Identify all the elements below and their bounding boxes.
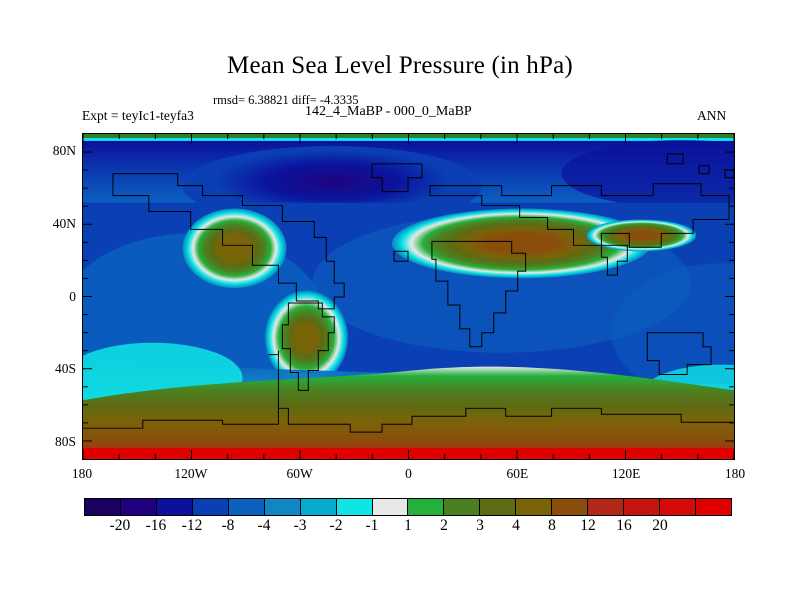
colorbar-cell-8[interactable]	[373, 499, 409, 515]
colorbar-cell-0[interactable]	[85, 499, 121, 515]
case-comparison-label: 142_4_MaBP - 000_0_MaBP	[305, 104, 472, 120]
season-label: ANN	[697, 108, 726, 124]
colorbar-strip[interactable]	[84, 498, 732, 516]
colorbar-cell-9[interactable]	[408, 499, 444, 515]
y-tick-label-80N: 80N	[30, 143, 76, 159]
x-tick-label-60E: 60E	[487, 466, 547, 482]
colorbar-cell-11[interactable]	[480, 499, 516, 515]
y-tick-label-80S: 80S	[30, 434, 76, 450]
colorbar-cell-15[interactable]	[624, 499, 660, 515]
x-tick-label-0: 0	[379, 466, 439, 482]
colorbar-cell-17[interactable]	[696, 499, 731, 515]
map-plot-area[interactable]	[82, 133, 735, 460]
colorbar-cell-7[interactable]	[337, 499, 373, 515]
colorbar-cell-13[interactable]	[552, 499, 588, 515]
y-tick-label-40N: 40N	[30, 216, 76, 232]
colorbar-tick-20: 20	[633, 517, 687, 535]
colorbar-cell-2[interactable]	[157, 499, 193, 515]
colorbar-cell-1[interactable]	[121, 499, 157, 515]
anomaly-contour-map	[83, 134, 734, 459]
y-axis: 80N40N040S80S	[22, 133, 76, 460]
colorbar-cell-5[interactable]	[265, 499, 301, 515]
x-tick-label-120W: 120W	[161, 466, 221, 482]
colorbar-cell-14[interactable]	[588, 499, 624, 515]
colorbar-tick-labels: -20-16-12-8-4-3-2-112348121620	[84, 517, 732, 539]
y-tick-label-40S: 40S	[30, 361, 76, 377]
experiment-label: Expt = teyIc1-teyfa3	[82, 108, 194, 124]
colorbar-cell-16[interactable]	[660, 499, 696, 515]
x-tick-label-180: 180	[52, 466, 112, 482]
x-tick-label-60W: 60W	[270, 466, 330, 482]
x-tick-label-180: 180	[705, 466, 765, 482]
x-axis: 180120W60W060E120E180	[82, 466, 735, 488]
colorbar-cell-6[interactable]	[301, 499, 337, 515]
colorbar[interactable]	[84, 498, 732, 516]
colorbar-cell-12[interactable]	[516, 499, 552, 515]
colorbar-cell-10[interactable]	[444, 499, 480, 515]
y-tick-label-0: 0	[30, 289, 76, 305]
colorbar-cell-4[interactable]	[229, 499, 265, 515]
x-tick-label-120E: 120E	[596, 466, 656, 482]
page-title: Mean Sea Level Pressure (in hPa)	[0, 52, 800, 80]
colorbar-cell-3[interactable]	[193, 499, 229, 515]
